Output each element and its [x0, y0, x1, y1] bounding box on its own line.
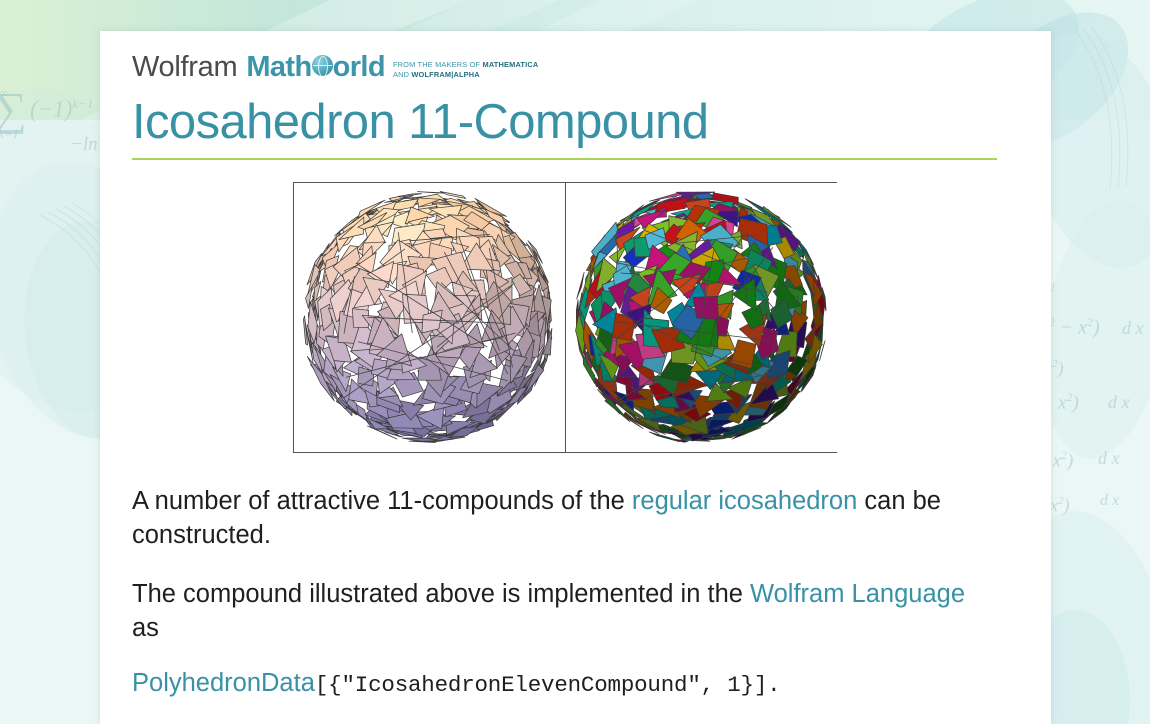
tagline-mathematica: MATHEMATICA	[482, 60, 538, 69]
paragraph-impl-part1: The compound illustrated above is implem…	[132, 580, 750, 608]
icosahedron-11-compound-color-render	[566, 183, 837, 452]
figure-cell-pastel[interactable]	[294, 183, 565, 452]
logo-math-text: Math	[246, 53, 311, 82]
title-divider	[132, 158, 997, 160]
bg-formula-dx-b: d x	[1108, 392, 1130, 413]
figure-cell-color[interactable]	[565, 183, 836, 452]
bg-formula-x2-d: x2)	[1050, 495, 1070, 516]
link-polyhedron-data[interactable]: PolyhedronData	[132, 669, 315, 697]
bg-formula-dx-c: d x	[1098, 448, 1120, 469]
paragraph-intro-part1: A number of attractive 11-compounds of t…	[132, 487, 632, 515]
code-line: PolyhedronData[{"IcosahedronElevenCompou…	[132, 668, 998, 699]
logo-wolfram-text: Wolfram	[132, 53, 237, 82]
paragraph-implementation: The compound illustrated above is implem…	[132, 577, 998, 646]
bg-formula-ln: −ln	[70, 134, 98, 156]
bg-formula-k1: k=1	[0, 126, 19, 142]
link-wolfram-language[interactable]: Wolfram Language	[750, 580, 965, 608]
logo-world-text: orld	[333, 53, 385, 82]
bg-formula-infinity: ∞	[0, 86, 9, 101]
tagline-line2-prefix: AND	[393, 70, 411, 79]
icosahedron-11-compound-pastel-render	[294, 183, 565, 452]
paragraph-intro: A number of attractive 11-compounds of t…	[132, 484, 998, 553]
tagline-line-1: FROM THE MAKERS OF MATHEMATICA	[393, 60, 538, 69]
bg-formula-dx-d: d x	[1100, 492, 1119, 510]
code-expression: [{"IcosahedronElevenCompound", 1}].	[315, 672, 781, 698]
bg-formula-neg1: (−1)k−1	[30, 96, 93, 123]
page-title: Icosahedron 11-Compound	[132, 96, 998, 149]
tagline-line-2: AND WOLFRAM|ALPHA	[393, 70, 538, 80]
main-figure[interactable]	[293, 182, 837, 453]
content-card: Wolfram Mathorld FROM THE MAKERS OF MATH…	[100, 31, 1051, 724]
globe-icon	[312, 55, 333, 76]
tagline-wolframalpha: WOLFRAM|ALPHA	[411, 70, 479, 79]
logo-mathworld-text: Mathorld	[246, 53, 385, 82]
link-regular-icosahedron[interactable]: regular icosahedron	[632, 487, 857, 515]
bg-formula-dx-a: d x	[1122, 318, 1144, 339]
site-tagline: FROM THE MAKERS OF MATHEMATICA AND WOLFR…	[393, 53, 538, 79]
paragraph-impl-part2: as	[132, 614, 159, 642]
main-figure-wrapper	[132, 182, 998, 453]
tagline-line1-prefix: FROM THE MAKERS OF	[393, 60, 483, 69]
site-logo[interactable]: Wolfram Mathorld FROM THE MAKERS OF MATH…	[132, 53, 998, 82]
